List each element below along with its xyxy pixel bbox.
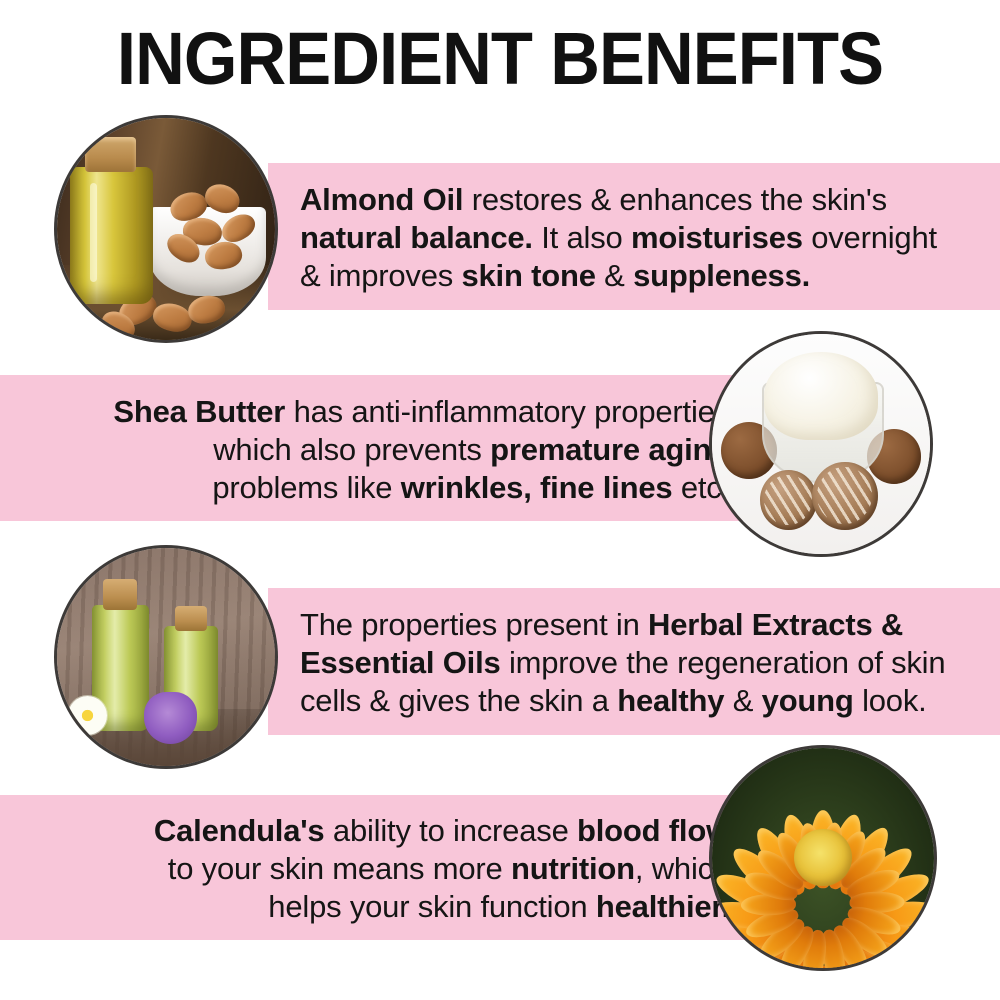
benefit-text-line: Almond Oil restores & enhances the skin'… [300,181,990,219]
shea-butter-illustration [712,334,930,554]
shea-nut-cracked-right [812,462,877,530]
benefit-text-line: Calendula's ability to increase blood fl… [20,812,730,850]
benefit-text-calendula: Calendula's ability to increase blood fl… [20,812,730,926]
benefit-text-shea-butter: Shea Butter has anti-inflammatory proper… [20,393,730,507]
almond-oil-photo [57,118,275,340]
benefit-text-line: helps your skin function healthier. [20,888,730,926]
flower-center [794,829,852,886]
calendula-photo [712,748,934,968]
benefit-text-line: to your skin means more nutrition, which [20,850,730,888]
benefit-text-almond-oil: Almond Oil restores & enhances the skin'… [300,181,990,295]
benefit-text-line: & improves skin tone & suppleness. [300,257,990,295]
herbal-extracts-illustration [57,548,275,766]
almond-oil-illustration [57,118,275,340]
benefit-text-line: problems like wrinkles, fine lines etc. [20,469,730,507]
almond-oil-bottle [70,167,153,305]
calendula-illustration [712,748,934,968]
benefit-text-herbal-extracts: The properties present in Herbal Extract… [300,606,990,720]
benefit-text-line: which also prevents premature aging [20,431,730,469]
lavender-sprig [144,692,196,744]
page-title: INGREDIENT BENEFITS [35,22,965,96]
benefit-text-line: natural balance. It also moisturises ove… [300,219,990,257]
herbal-extracts-photo [57,548,275,766]
shea-butter-photo [712,334,930,554]
shea-nut-cracked-left [760,470,817,529]
benefit-text-line: cells & gives the skin a healthy & young… [300,682,990,720]
benefit-text-line: Essential Oils improve the regeneration … [300,644,990,682]
benefit-text-line: Shea Butter has anti-inflammatory proper… [20,393,730,431]
shea-butter-cream [764,352,877,440]
infographic-canvas: INGREDIENT BENEFITS Almond Oil restores … [0,0,1000,1000]
benefit-text-line: The properties present in Herbal Extract… [300,606,990,644]
